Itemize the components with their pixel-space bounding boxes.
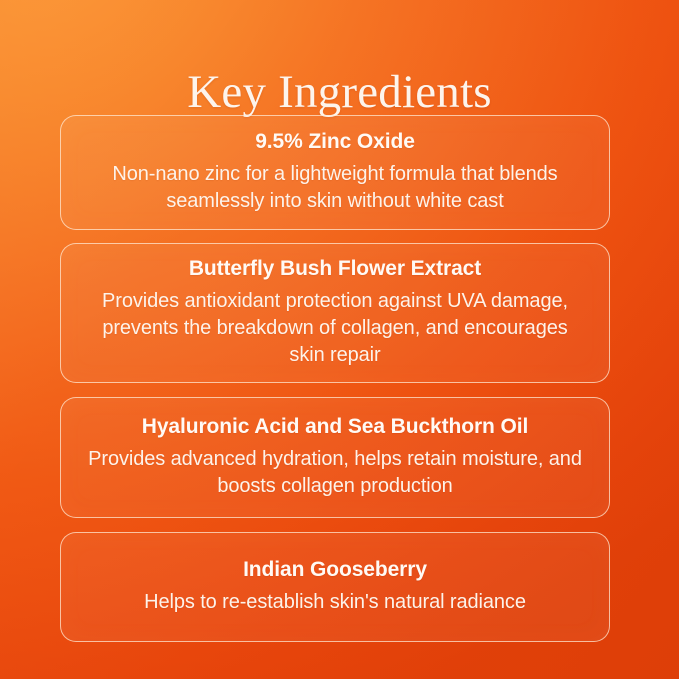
ingredient-card-description: Provides advanced hydration, helps retai… [83,446,587,500]
ingredient-card: Indian Gooseberry Helps to re-establish … [60,532,610,642]
ingredient-card: Butterfly Bush Flower Extract Provides a… [60,243,610,383]
poster-content: Key Ingredients 9.5% Zinc Oxide Non-nano… [0,0,679,679]
ingredient-card-title: 9.5% Zinc Oxide [255,128,415,156]
page-title: Key Ingredients [0,64,679,120]
ingredients-poster: Key Ingredients 9.5% Zinc Oxide Non-nano… [0,0,679,679]
ingredient-card-description: Provides antioxidant protection against … [83,288,587,370]
ingredient-card-description: Helps to re-establish skin's natural rad… [144,589,526,616]
ingredient-card: 9.5% Zinc Oxide Non-nano zinc for a ligh… [60,115,610,230]
ingredient-card: Hyaluronic Acid and Sea Buckthorn Oil Pr… [60,397,610,518]
ingredient-card-description: Non-nano zinc for a lightweight formula … [83,161,587,215]
ingredient-card-title: Indian Gooseberry [243,556,427,584]
ingredient-card-title: Hyaluronic Acid and Sea Buckthorn Oil [142,413,528,441]
ingredient-card-title: Butterfly Bush Flower Extract [189,255,481,283]
